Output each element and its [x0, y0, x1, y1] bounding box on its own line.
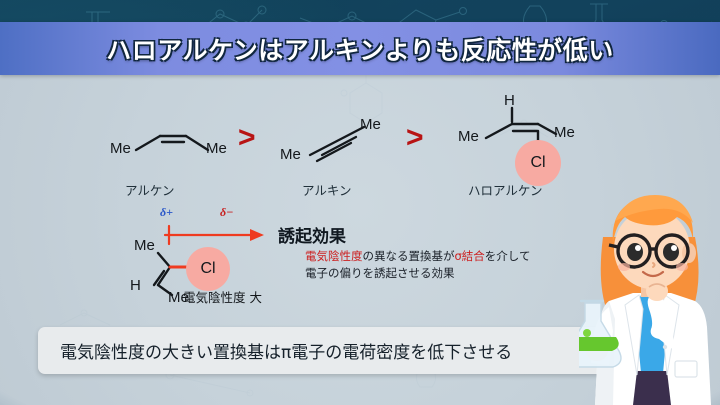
molecule-alkene: Me Me: [118, 120, 228, 165]
haloalkene-halogen-label: Cl: [530, 154, 545, 172]
alkyne-atom-right: Me: [360, 116, 381, 133]
description-part-2: の異なる置換基が: [363, 249, 455, 263]
inductive-effect-heading: 誘起効果: [278, 222, 346, 247]
haloalkene-atom-right: Me: [554, 124, 575, 141]
description-part-4: を介して: [485, 249, 531, 263]
electronegativity-caption: 電気陰性度 大: [183, 287, 262, 306]
comparison-operator-2: >: [406, 123, 424, 153]
label-alkyne: アルキン: [302, 180, 352, 199]
haloalkene-atom-top: H: [504, 92, 515, 109]
summary-banner-text: 電気陰性度の大きい置換基はπ電子の電荷密度を低下させる: [38, 338, 512, 363]
molecule-alkyne: Me Me: [286, 115, 396, 170]
description-highlight-2: σ結合: [455, 249, 485, 263]
induction-atom-lower-left: H: [130, 277, 141, 294]
induction-halogen-label: Cl: [200, 260, 215, 278]
description-line-2: 電子の偏りを誘起させる効果: [305, 266, 455, 280]
induction-atom-upper-left: Me: [134, 237, 155, 254]
comparison-row: Me Me アルケン > Me Me アルキン >: [0, 95, 640, 205]
molecule-haloalkene: H Me Me Cl: [460, 100, 580, 180]
slide-root: ハロアルケンはアルキンよりも反応性が低い Me Me アルケン >: [0, 0, 720, 405]
summary-banner: 電気陰性度の大きい置換基はπ電子の電荷密度を低下させる: [38, 327, 638, 374]
description-highlight-1: 電気陰性度: [305, 249, 363, 263]
alkene-atom-left: Me: [110, 140, 131, 157]
haloalkene-atom-left: Me: [458, 128, 479, 145]
slide-title-bar: ハロアルケンはアルキンよりも反応性が低い: [0, 22, 720, 75]
label-haloalkene: ハロアルケン: [468, 180, 543, 199]
inductive-effect-description: 電気陰性度の異なる置換基がσ結合を介して 電子の偏りを誘起させる効果: [305, 248, 625, 283]
scientist-girl-illustration: [579, 175, 720, 405]
page-title: ハロアルケンはアルキンよりも反応性が低い: [106, 31, 614, 67]
comparison-operator-1: >: [238, 123, 256, 153]
induction-halogen-highlight: Cl: [186, 247, 230, 291]
label-alkene: アルケン: [125, 180, 175, 199]
alkene-atom-right: Me: [206, 140, 227, 157]
alkyne-atom-left: Me: [280, 146, 301, 163]
